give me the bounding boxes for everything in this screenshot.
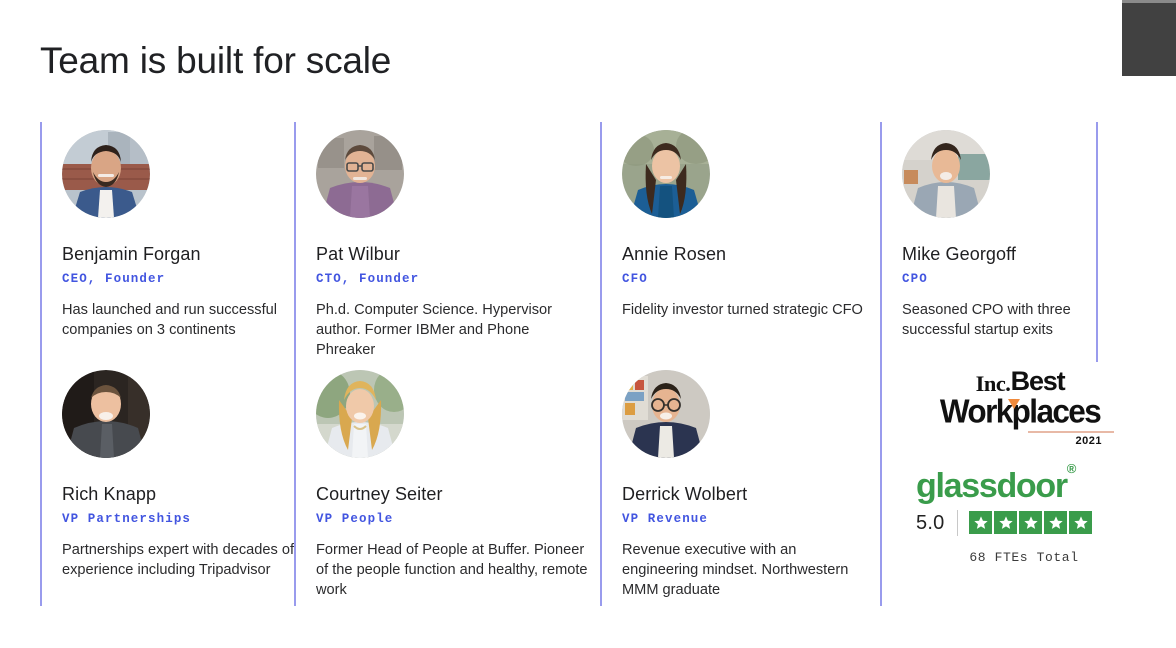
- team-member-card[interactable]: Pat Wilbur CTO, Founder Ph.d. Computer S…: [294, 122, 600, 362]
- team-member-role: VP Revenue: [622, 511, 880, 527]
- slide-canvas: Team is built for scale: [0, 0, 1176, 648]
- avatar: [316, 370, 404, 458]
- team-row-2: Rich Knapp VP Partnerships Partnerships …: [40, 362, 1136, 606]
- glassdoor-rating-value: 5.0: [916, 513, 944, 533]
- team-member-bio: Revenue executive with an engineering mi…: [622, 540, 872, 600]
- team-member-card[interactable]: Courtney Seiter VP People Former Head of…: [294, 362, 600, 606]
- team-member-name: Mike Georgoff: [902, 243, 1136, 265]
- star-icon: [1069, 511, 1092, 534]
- orange-triangle-icon: [1008, 399, 1020, 409]
- glassdoor-wordmark-text: glassdoor: [916, 467, 1067, 505]
- avatar: [316, 130, 404, 218]
- team-member-card[interactable]: Annie Rosen CFO Fidelity investor turned…: [600, 122, 880, 362]
- team-member-card[interactable]: Rich Knapp VP Partnerships Partnerships …: [40, 362, 294, 606]
- team-member-name: Annie Rosen: [622, 243, 880, 265]
- corner-decoration-top-edge: [1122, 0, 1176, 3]
- inc-best-workplaces-logo: Inc. Best Workplaces 2021: [920, 368, 1120, 447]
- team-member-name: Benjamin Forgan: [62, 243, 294, 265]
- awards-card: Inc. Best Workplaces 2021 glassdoor®: [880, 362, 1136, 606]
- team-grid: Benjamin Forgan CEO, Founder Has launche…: [40, 122, 1136, 606]
- avatar: [622, 370, 710, 458]
- team-member-bio: Ph.d. Computer Science. Hypervisor autho…: [316, 300, 591, 360]
- team-member-card[interactable]: Derrick Wolbert VP Revenue Revenue execu…: [600, 362, 880, 606]
- team-member-name: Rich Knapp: [62, 483, 294, 505]
- card-divider: [40, 362, 42, 606]
- page-title: Team is built for scale: [40, 38, 391, 84]
- team-member-role: VP Partnerships: [62, 511, 294, 527]
- fte-total-label: 68 FTEs Total: [916, 550, 1132, 565]
- inc-award-year: 2021: [920, 435, 1120, 447]
- glassdoor-wordmark: glassdoor®: [916, 469, 1075, 503]
- card-divider: [294, 362, 296, 606]
- inc-logo-line-2: Workplaces: [920, 396, 1120, 428]
- star-icon: [1044, 511, 1067, 534]
- inc-workplaces-word: Workplaces: [940, 395, 1100, 428]
- star-icon: [969, 511, 992, 534]
- team-member-role: VP People: [316, 511, 600, 527]
- star-icon: [1019, 511, 1042, 534]
- star-rating: [969, 511, 1092, 534]
- team-member-role: CTO, Founder: [316, 271, 600, 287]
- corner-decoration-block: [1122, 0, 1176, 76]
- card-divider: [880, 122, 882, 362]
- team-member-bio: Partnerships expert with decades of expe…: [62, 540, 294, 580]
- avatar: [62, 370, 150, 458]
- glassdoor-badge: glassdoor® 5.0 68: [916, 469, 1132, 565]
- team-member-card[interactable]: Benjamin Forgan CEO, Founder Has launche…: [40, 122, 294, 362]
- card-divider: [1096, 122, 1098, 362]
- star-icon: [994, 511, 1017, 534]
- card-divider: [880, 362, 882, 606]
- avatar: [622, 130, 710, 218]
- inc-logo-rule: [1028, 431, 1114, 433]
- team-member-role: CPO: [902, 271, 1136, 287]
- card-divider: [600, 362, 602, 606]
- team-member-bio: Fidelity investor turned strategic CFO: [622, 300, 872, 320]
- card-divider: [40, 122, 42, 362]
- team-member-bio: Former Head of People at Buffer. Pioneer…: [316, 540, 591, 600]
- divider: [957, 510, 958, 536]
- avatar: [902, 130, 990, 218]
- team-member-bio: Has launched and run successful companie…: [62, 300, 294, 340]
- card-divider: [294, 122, 296, 362]
- team-row-1: Benjamin Forgan CEO, Founder Has launche…: [40, 122, 1136, 362]
- avatar: [62, 130, 150, 218]
- team-member-name: Pat Wilbur: [316, 243, 600, 265]
- team-member-name: Derrick Wolbert: [622, 483, 880, 505]
- card-divider: [600, 122, 602, 362]
- team-member-role: CEO, Founder: [62, 271, 294, 287]
- awards-container: Inc. Best Workplaces 2021 glassdoor®: [902, 362, 1148, 565]
- team-member-role: CFO: [622, 271, 880, 287]
- team-member-name: Courtney Seiter: [316, 483, 600, 505]
- glassdoor-rating-row: 5.0: [916, 510, 1132, 536]
- team-member-bio: Seasoned CPO with three successful start…: [902, 300, 1136, 340]
- registered-trademark-icon: ®: [1067, 461, 1075, 476]
